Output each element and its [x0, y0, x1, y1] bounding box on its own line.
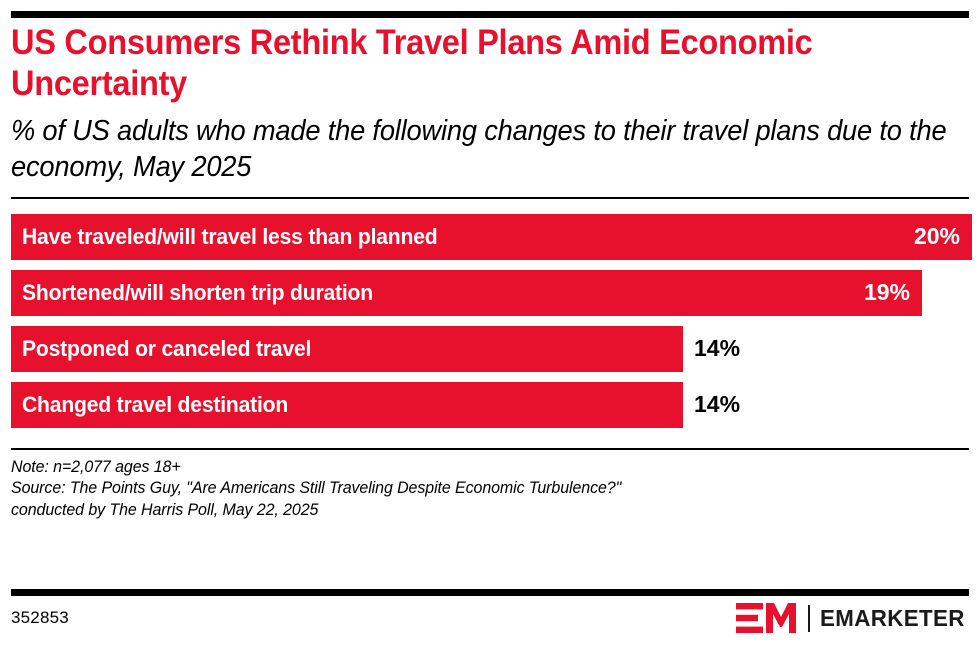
bar-value-label: 14% [683, 382, 740, 428]
bar-chart-plot: Have traveled/will travel less than plan… [11, 214, 969, 428]
footnote-source-line-1: Source: The Points Guy, "Are Americans S… [11, 478, 940, 500]
header-divider-rule [11, 197, 969, 199]
footnote-note: Note: n=2,077 ages 18+ [11, 457, 940, 479]
bar-category-label: Have traveled/will travel less than plan… [22, 224, 437, 250]
chart-id: 352853 [11, 608, 69, 628]
bar-row: Have traveled/will travel less than plan… [11, 214, 969, 260]
header-divider-line [11, 197, 969, 199]
bar-value-label: 20% [914, 223, 960, 250]
bottom-rule-line [11, 589, 969, 596]
bar-postponed-or-canceled: Postponed or canceled travel [11, 326, 683, 372]
top-rule [11, 11, 969, 18]
emarketer-logo[interactable]: EMARKETER [736, 603, 969, 633]
bar-shortened-trip-duration: Shortened/will shorten trip duration 19% [11, 270, 922, 316]
bar-category-label: Shortened/will shorten trip duration [22, 280, 373, 306]
bar-row: Changed travel destination 14% [11, 382, 969, 428]
logo-divider [808, 605, 810, 632]
chart-card: US Consumers Rethink Travel Plans Amid E… [0, 11, 980, 645]
footnote-source-line-2: conducted by The Harris Poll, May 22, 20… [11, 500, 940, 522]
bar-category-label: Changed travel destination [22, 392, 288, 418]
chart-header: US Consumers Rethink Travel Plans Amid E… [11, 18, 969, 186]
bar-changed-destination: Changed travel destination [11, 382, 683, 428]
bar-category-label: Postponed or canceled travel [22, 336, 311, 362]
footer-divider-line [11, 448, 969, 450]
bar-row: Postponed or canceled travel 14% [11, 326, 969, 372]
bar-have-traveled-less: Have traveled/will travel less than plan… [11, 214, 972, 260]
brand-wordmark: EMARKETER [820, 605, 965, 632]
bottom-rule [11, 589, 969, 596]
footnotes: Note: n=2,077 ages 18+ Source: The Point… [11, 457, 969, 522]
chart-subtitle: % of US adults who made the following ch… [11, 113, 966, 186]
chart-footer-bar: 352853 EMARKETER [11, 602, 969, 634]
bar-value-label: 14% [683, 326, 740, 372]
bar-value-label: 19% [864, 279, 910, 306]
bar-row: Shortened/will shorten trip duration 19% [11, 270, 969, 316]
chart-title: US Consumers Rethink Travel Plans Amid E… [11, 23, 964, 104]
em-monogram-icon [736, 603, 798, 633]
footer-divider-rule [11, 448, 969, 450]
